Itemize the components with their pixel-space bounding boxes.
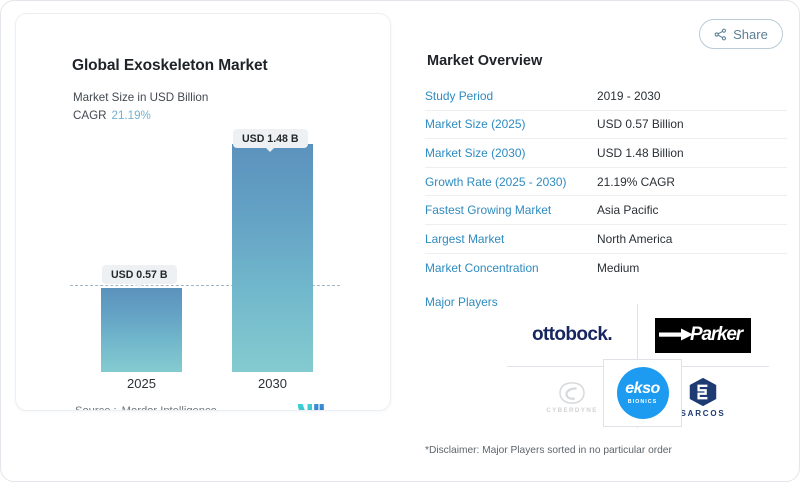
- row-value: USD 1.48 Billion: [597, 146, 684, 160]
- row-key: Market Size (2025): [425, 117, 597, 131]
- major-players-label: Major Players: [425, 295, 498, 309]
- row-value: 21.19% CAGR: [597, 175, 675, 189]
- row-value: Asia Pacific: [597, 203, 658, 217]
- major-players-logo-grid: ottobock. Parker CYBERDYNE: [507, 304, 769, 428]
- table-row: Market Size (2030) USD 1.48 Billion: [425, 139, 787, 168]
- bar-2025[interactable]: [101, 288, 182, 372]
- disclaimer-text: *Disclaimer: Major Players sorted in no …: [425, 445, 672, 456]
- player-cell-ottobock: ottobock.: [507, 304, 637, 366]
- ekso-wordmark: ekso: [625, 381, 659, 397]
- source-row: Source : Mordor Intelligence: [75, 405, 217, 411]
- table-row: Market Concentration Medium: [425, 254, 787, 283]
- ekso-subwordmark: BIONICS: [628, 399, 657, 405]
- x-axis-tick-2030: 2030: [232, 376, 313, 391]
- row-key: Largest Market: [425, 232, 597, 246]
- mordor-intelligence-logo: [298, 403, 324, 411]
- share-button[interactable]: Share: [699, 19, 783, 49]
- x-axis-tick-2025: 2025: [101, 376, 182, 391]
- row-value: USD 0.57 Billion: [597, 117, 684, 131]
- row-value: North America: [597, 232, 672, 246]
- table-row: Study Period 2019 - 2030: [425, 82, 787, 111]
- sarcos-logo: SARCOS: [680, 377, 725, 418]
- share-nodes-icon: [714, 28, 727, 41]
- player-cell-parker: Parker: [638, 304, 768, 366]
- row-key: Study Period: [425, 89, 597, 103]
- source-label: Source :: [75, 405, 117, 411]
- ottobock-logo: ottobock.: [532, 324, 612, 346]
- table-row: Fastest Growing Market Asia Pacific: [425, 196, 787, 225]
- source-name: Mordor Intelligence: [122, 405, 217, 411]
- player-cell-ekso: ekso BIONICS: [603, 359, 682, 427]
- parker-logo: Parker: [655, 318, 751, 353]
- cyberdyne-wordmark: CYBERDYNE: [546, 407, 597, 414]
- share-button-label: Share: [733, 27, 768, 42]
- ekso-bionics-logo: ekso BIONICS: [617, 367, 669, 419]
- bar-value-label-2030: USD 1.48 B: [233, 129, 308, 148]
- row-key: Fastest Growing Market: [425, 203, 597, 217]
- table-row: Largest Market North America: [425, 225, 787, 254]
- row-value: Medium: [597, 261, 639, 275]
- market-overview-title: Market Overview: [427, 53, 542, 69]
- bar-2030[interactable]: [232, 144, 313, 372]
- row-key: Growth Rate (2025 - 2030): [425, 175, 597, 189]
- market-snapshot-page: Share Global Exoskeleton Market Market S…: [0, 0, 800, 482]
- row-key: Market Size (2030): [425, 146, 597, 160]
- table-row: Growth Rate (2025 - 2030) 21.19% CAGR: [425, 168, 787, 197]
- sarcos-wordmark: SARCOS: [680, 409, 725, 418]
- table-row: Market Size (2025) USD 0.57 Billion: [425, 111, 787, 140]
- row-key: Market Concentration: [425, 261, 597, 275]
- market-overview-table: Study Period 2019 - 2030 Market Size (20…: [425, 82, 787, 282]
- bar-chart-plot-area: USD 0.57 B USD 1.48 B 2025 2030: [16, 14, 391, 411]
- cyberdyne-logo: CYBERDYNE: [546, 381, 597, 414]
- row-value: 2019 - 2030: [597, 89, 660, 103]
- chart-card: Global Exoskeleton Market Market Size in…: [15, 13, 391, 411]
- bar-value-label-2025: USD 0.57 B: [102, 265, 177, 284]
